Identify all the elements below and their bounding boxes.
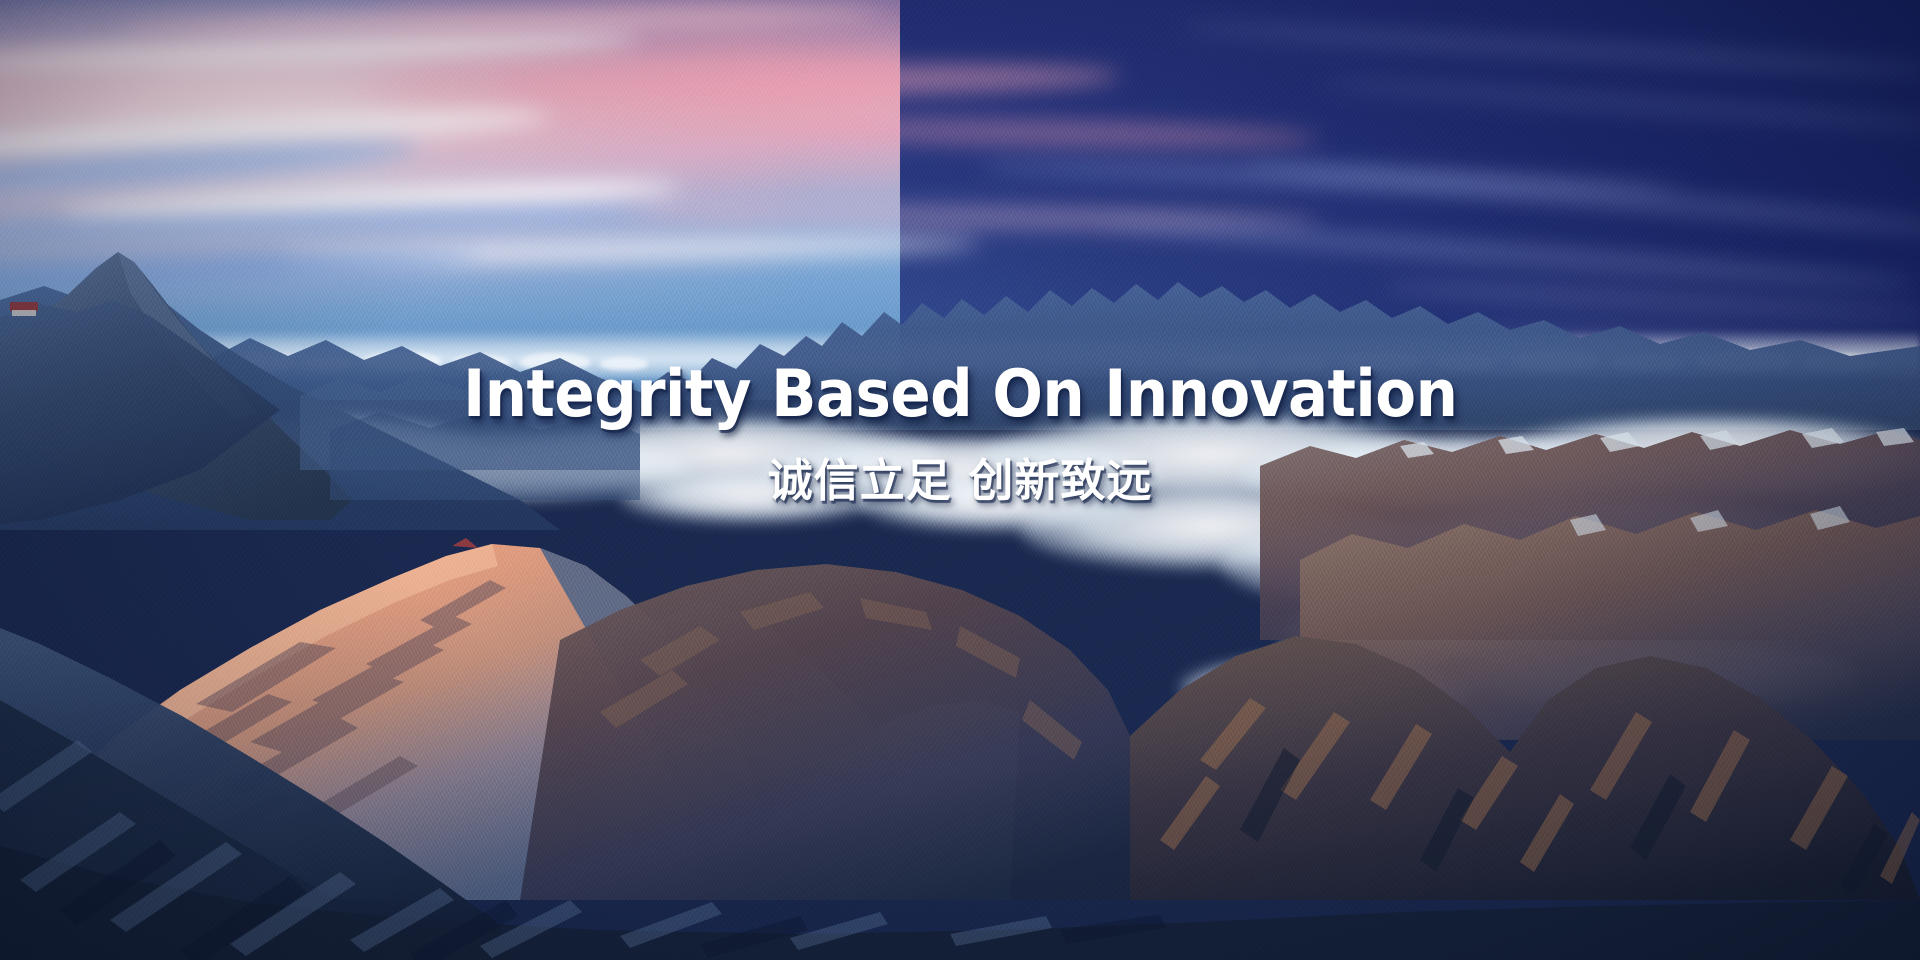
hero-banner: Integrity Based On Innovation 诚信立足 创新致远: [0, 0, 1920, 960]
photo-grain-overlay: [0, 0, 1920, 960]
